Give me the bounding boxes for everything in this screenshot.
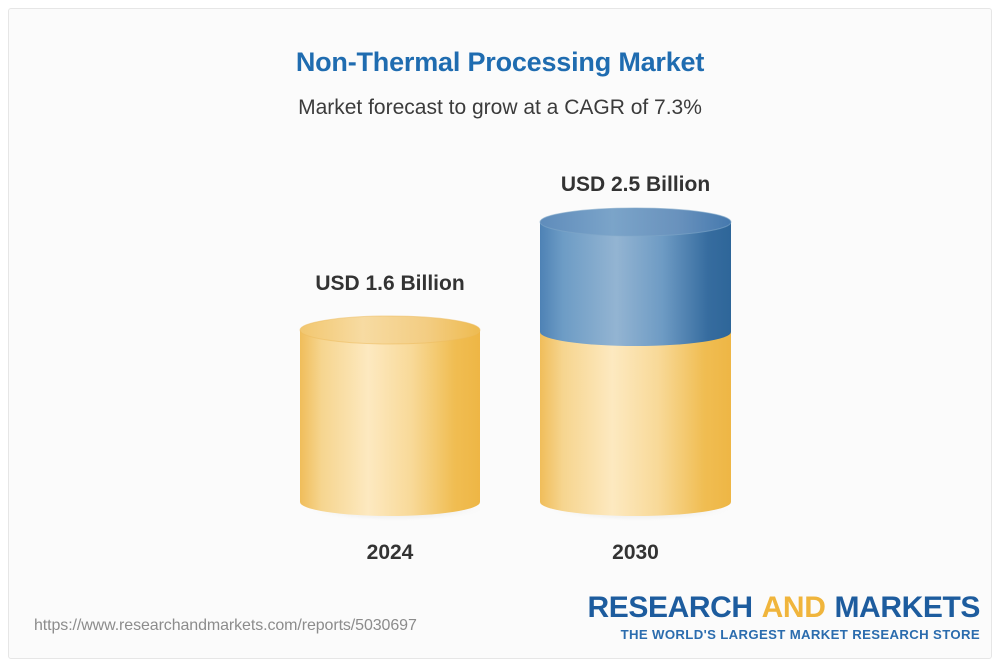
research-and-markets-logo[interactable]: RESEARCHANDMARKETS THE WORLD'S LARGEST M… <box>588 593 980 641</box>
logo-word-research: RESEARCH <box>588 591 753 624</box>
cylinder-2024 <box>300 316 480 516</box>
category-label-2030: 2030 <box>540 541 731 565</box>
value-label-2024: USD 1.6 Billion <box>300 272 480 296</box>
cylinder-segment-top-2030 <box>540 222 731 346</box>
bar-2030[interactable] <box>540 208 731 516</box>
cylinder-2030 <box>540 208 731 516</box>
logo-word-markets: MARKETS <box>834 591 980 624</box>
bar-2024[interactable] <box>300 316 480 516</box>
category-label-2024: 2024 <box>300 541 480 565</box>
chart-card: Non-Thermal Processing Market Market for… <box>8 8 992 659</box>
source-url[interactable]: https://www.researchandmarkets.com/repor… <box>34 617 417 635</box>
cylinder-body-2024 <box>300 330 480 516</box>
logo-word-and: AND <box>762 591 826 624</box>
logo-wordmark: RESEARCHANDMARKETS <box>588 593 980 623</box>
value-label-2030: USD 2.5 Billion <box>540 173 731 197</box>
chart-plot-area: USD 1.6 Billion <box>9 9 991 658</box>
logo-tagline: THE WORLD'S LARGEST MARKET RESEARCH STOR… <box>588 628 980 641</box>
